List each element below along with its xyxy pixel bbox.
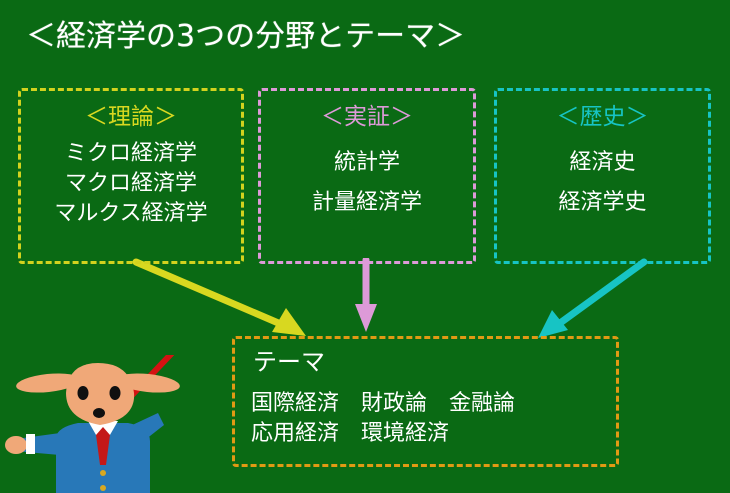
theme-row: 国際経済 財政論 金融論 — [251, 389, 515, 419]
category-item: 統計学 — [261, 143, 473, 183]
category-heading-theory: ＜理論＞ — [21, 103, 241, 131]
theme-items: 国際経済 財政論 金融論 応用経済 環境経済 — [251, 389, 515, 449]
category-box-history[interactable]: ＜歴史＞ 経済史 経済学史 — [494, 88, 711, 264]
category-item: マクロ経済学 — [21, 169, 241, 199]
sheep-eye-left — [78, 386, 89, 400]
category-item: 計量経済学 — [261, 183, 473, 223]
arrow-empirical-to-theme — [348, 258, 388, 344]
category-items-history: 経済史 経済学史 — [497, 143, 708, 223]
category-item: 経済史 — [497, 143, 708, 183]
sheep-left-hand — [5, 436, 27, 454]
category-box-empirical[interactable]: ＜実証＞ 統計学 計量経済学 — [258, 88, 476, 264]
slide-canvas: ＜経済学の3つの分野とテーマ＞ ＜理論＞ ミクロ経済学 マクロ経済学 マルクス経… — [0, 0, 730, 493]
category-heading-empirical: ＜実証＞ — [261, 103, 473, 131]
sheep-nose — [93, 408, 105, 418]
category-item: ミクロ経済学 — [21, 139, 241, 169]
sheep-eye-right — [110, 386, 121, 400]
arrow-theory-to-theme — [130, 258, 370, 348]
category-box-theory[interactable]: ＜理論＞ ミクロ経済学 マクロ経済学 マルクス経済学 — [18, 88, 244, 264]
category-item: 経済学史 — [497, 183, 708, 223]
sheep-left-cuff — [26, 434, 35, 454]
theme-row: 応用経済 環境経済 — [251, 419, 515, 449]
category-items-theory: ミクロ経済学 マクロ経済学 マルクス経済学 — [21, 139, 241, 229]
theme-box[interactable]: テーマ 国際経済 財政論 金融論 応用経済 環境経済 — [232, 336, 619, 467]
arrow-history-to-theme — [520, 258, 650, 348]
category-item: マルクス経済学 — [21, 199, 241, 229]
theme-heading: テーマ — [253, 347, 325, 377]
sheep-button — [100, 485, 106, 491]
mascot-sheep-teacher — [0, 355, 230, 493]
category-heading-history: ＜歴史＞ — [497, 103, 708, 131]
category-items-empirical: 統計学 計量経済学 — [261, 143, 473, 223]
page-title: ＜経済学の3つの分野とテーマ＞ — [26, 18, 465, 56]
sheep-button — [100, 470, 106, 476]
